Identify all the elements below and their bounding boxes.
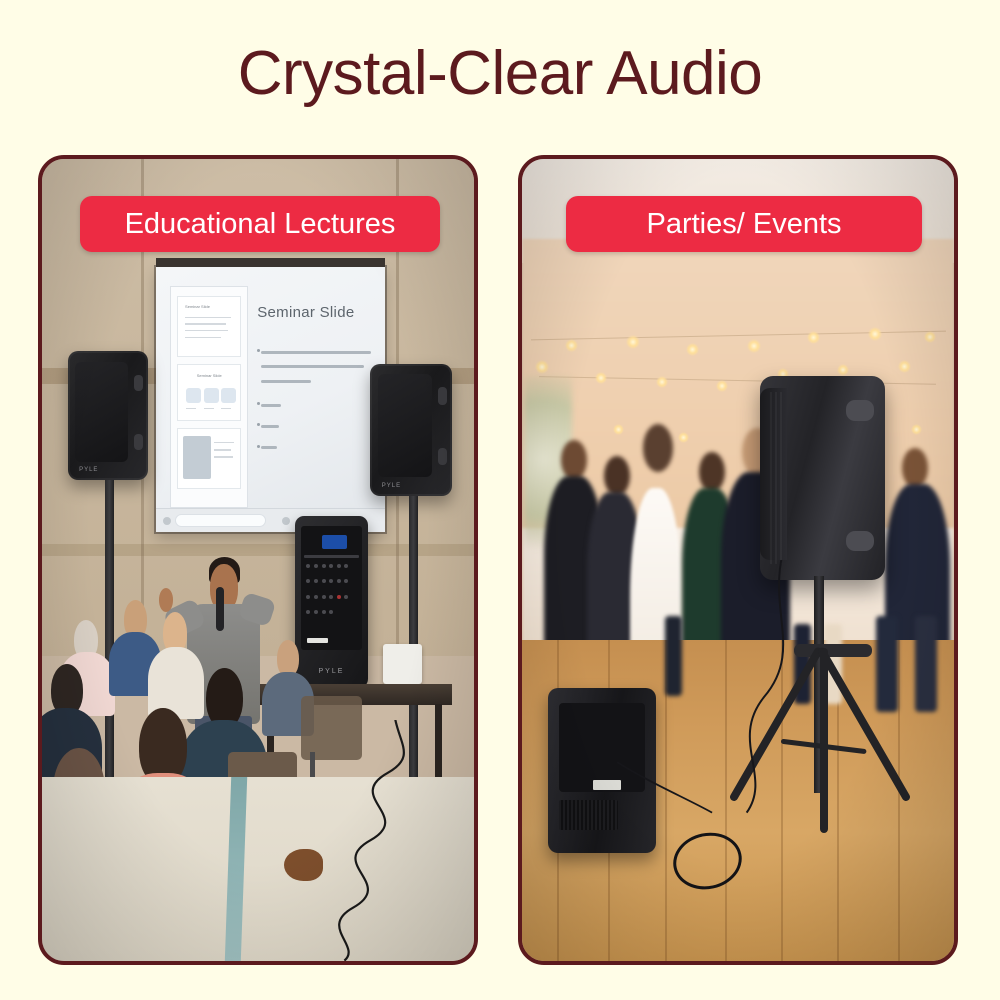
photo-party-venue (522, 159, 954, 961)
panel-educational-lectures: Seminar Slide Seminar Slide (38, 155, 478, 965)
string-light (747, 339, 761, 353)
audience-head (206, 668, 243, 728)
guest-head (902, 448, 928, 488)
slide-thumbnail: Seminar Slide (177, 364, 241, 421)
speaker-brand-logo: PYLE (79, 467, 98, 473)
thumbnail-title: Seminar Slide (185, 304, 210, 309)
mixer-display (322, 535, 348, 549)
photo-lecture-hall: Seminar Slide Seminar Slide (42, 159, 474, 961)
projector-screen: Seminar Slide Seminar Slide (156, 267, 385, 532)
pa-speaker-side (760, 388, 788, 560)
guest-head (604, 456, 630, 496)
string-light (837, 364, 849, 376)
slide-thumbnail (177, 428, 241, 490)
string-light (613, 424, 624, 435)
slide-navigator-pane: Seminar Slide Seminar Slide (170, 286, 248, 508)
panel-parties-events: Parties/ Events (518, 155, 958, 965)
pa-speaker-tripod (760, 376, 885, 581)
pa-speaker-left: PYLE (68, 351, 148, 479)
mixer-knob-grid (304, 558, 358, 628)
pa-speaker-handle-top (846, 400, 874, 420)
speaker-cable (42, 720, 474, 961)
guest-head (699, 452, 725, 492)
string-light (678, 432, 689, 443)
string-light (716, 380, 728, 392)
string-light (595, 372, 607, 384)
audience-shoe (284, 849, 323, 881)
badge-educational-lectures: Educational Lectures (80, 196, 440, 252)
bride-head (643, 424, 673, 472)
slide-thumbnail: Seminar Slide (177, 296, 241, 358)
handheld-microphone (216, 587, 225, 631)
string-light (898, 360, 911, 373)
powered-speaker-mixer: PYLE (295, 516, 368, 688)
guest-head (561, 440, 587, 480)
pa-speaker-right: PYLE (370, 364, 452, 496)
string-light (535, 360, 549, 374)
thumbnail-title: Seminar Slide (197, 373, 222, 378)
speaker-brand-logo: PYLE (382, 483, 401, 489)
string-light (868, 327, 882, 341)
pa-speaker-handle-bottom (846, 531, 874, 551)
mixer-brand-logo: PYLE (318, 668, 344, 675)
string-light (911, 424, 922, 435)
badge-parties-events: Parties/ Events (566, 196, 922, 252)
string-light (656, 376, 668, 388)
slide-title: Seminar Slide (257, 304, 354, 321)
taskbar-search-field[interactable] (175, 514, 267, 527)
audience-body (148, 647, 204, 719)
projector-device (383, 644, 422, 684)
speaker-cable-right (522, 560, 954, 921)
page-title: Crystal-Clear Audio (0, 38, 1000, 110)
